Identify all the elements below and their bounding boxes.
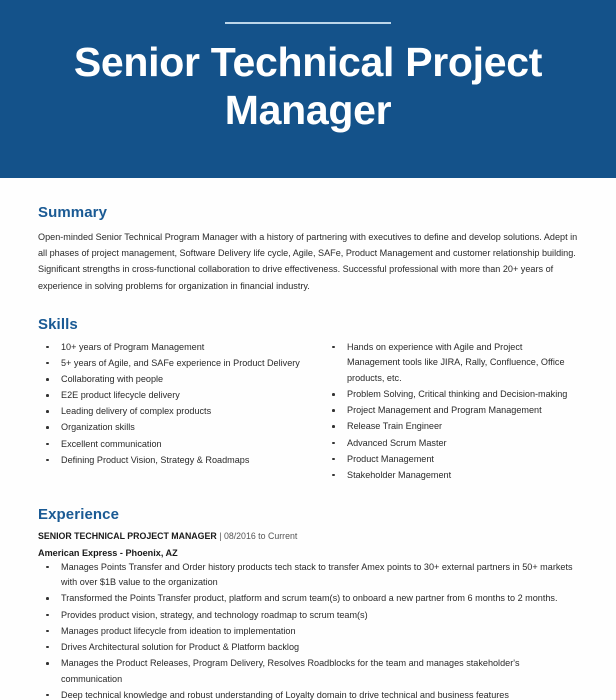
list-item: Collaborating with people bbox=[38, 372, 308, 388]
summary-heading: Summary bbox=[38, 204, 578, 221]
skills-right-list: Hands on experience with Agile and Proje… bbox=[324, 340, 578, 484]
skills-right-column: Hands on experience with Agile and Proje… bbox=[308, 340, 578, 484]
job-company: American Express - Phoenix, AZ bbox=[38, 546, 578, 560]
experience-section: Experience SENIOR TECHNICAL PROJECT MANA… bbox=[38, 506, 578, 700]
list-item: 5+ years of Agile, and SAFe experience i… bbox=[38, 356, 308, 372]
page-title: Senior Technical Project Manager bbox=[28, 38, 588, 135]
experience-job: SENIOR TECHNICAL PROJECT MANAGER | 08/20… bbox=[38, 530, 578, 700]
summary-text: Open-minded Senior Technical Program Man… bbox=[38, 229, 578, 294]
list-item: Product Management bbox=[324, 452, 578, 468]
skills-left-list: 10+ years of Program Management5+ years … bbox=[38, 340, 308, 469]
list-item: Defining Product Vision, Strategy & Road… bbox=[38, 453, 308, 469]
resume-header-banner: Senior Technical Project Manager bbox=[0, 0, 616, 178]
job-dates: 08/2016 to Current bbox=[224, 531, 297, 541]
list-item: 10+ years of Program Management bbox=[38, 340, 308, 356]
list-item: Leading delivery of complex products bbox=[38, 404, 308, 420]
list-item: E2E product lifecycle delivery bbox=[38, 388, 308, 404]
skills-section: Skills 10+ years of Program Management5+… bbox=[38, 316, 578, 484]
list-item: Excellent communication bbox=[38, 437, 308, 453]
list-item: Deep technical knowledge and robust unde… bbox=[38, 688, 578, 700]
list-item: Manages the Product Releases, Program De… bbox=[38, 656, 578, 687]
list-item: Manages Points Transfer and Order histor… bbox=[38, 560, 578, 591]
resume-page: Senior Technical Project Manager Summary… bbox=[0, 0, 616, 700]
skills-heading: Skills bbox=[38, 316, 578, 333]
list-item: Organization skills bbox=[38, 420, 308, 436]
list-item: Manages product lifecycle from ideation … bbox=[38, 624, 578, 640]
job-bullet-list: Manages Points Transfer and Order histor… bbox=[38, 560, 578, 700]
list-item: Project Management and Program Managemen… bbox=[324, 403, 578, 419]
list-item: Drives Architectural solution for Produc… bbox=[38, 640, 578, 656]
list-item: Problem Solving, Critical thinking and D… bbox=[324, 387, 578, 403]
job-role: SENIOR TECHNICAL PROJECT MANAGER bbox=[38, 531, 217, 541]
resume-body: Summary Open-minded Senior Technical Pro… bbox=[0, 204, 616, 700]
experience-heading: Experience bbox=[38, 506, 578, 523]
summary-section: Summary Open-minded Senior Technical Pro… bbox=[38, 204, 578, 294]
list-item: Stakeholder Management bbox=[324, 468, 578, 484]
list-item: Transformed the Points Transfer product,… bbox=[38, 591, 578, 607]
header-divider-rule bbox=[225, 22, 391, 24]
list-item: Release Train Engineer bbox=[324, 419, 578, 435]
job-title-separator: | bbox=[219, 531, 221, 541]
list-item: Provides product vision, strategy, and t… bbox=[38, 608, 578, 624]
skills-columns: 10+ years of Program Management5+ years … bbox=[38, 340, 578, 484]
job-title-line: SENIOR TECHNICAL PROJECT MANAGER | 08/20… bbox=[38, 530, 578, 544]
skills-left-column: 10+ years of Program Management5+ years … bbox=[38, 340, 308, 484]
list-item: Advanced Scrum Master bbox=[324, 436, 578, 452]
list-item: Hands on experience with Agile and Proje… bbox=[324, 340, 578, 387]
